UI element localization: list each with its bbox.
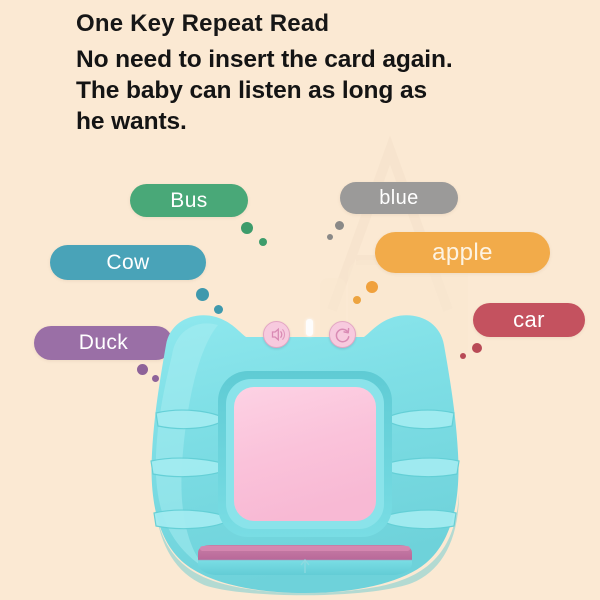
bubble-dot-apple [366,281,378,293]
speaker-volume-icon [264,322,289,347]
repeat-replay-icon [330,322,355,347]
bubble-dot-blue [327,234,333,240]
device-svg [120,295,490,600]
word-card-label: apple [432,239,493,267]
word-card-label: blue [379,187,418,210]
word-card-blue[interactable]: blue [340,182,458,214]
bubble-dot-bus [259,238,267,246]
card-slot-lip [200,546,410,551]
product-promo-image: One Key Repeat Read No need to insert th… [0,0,600,600]
button-repeat[interactable] [329,321,356,348]
word-card-label: car [513,307,545,333]
word-card-label: Cow [106,251,149,275]
screen [234,387,376,521]
led-indicator [306,319,313,336]
word-card-cow[interactable]: Cow [50,245,206,280]
button-speaker[interactable] [263,321,290,348]
bubble-dot-blue [335,221,344,230]
page-subtitle: No need to insert the card again. The ba… [76,44,576,137]
word-card-bus[interactable]: Bus [130,184,248,217]
device-illustration [120,295,490,600]
page-title: One Key Repeat Read [76,8,576,40]
headline-block: One Key Repeat Read No need to insert th… [76,8,576,137]
word-card-label: Bus [170,189,207,213]
word-card-apple[interactable]: apple [375,232,550,273]
bubble-dot-bus [241,222,253,234]
